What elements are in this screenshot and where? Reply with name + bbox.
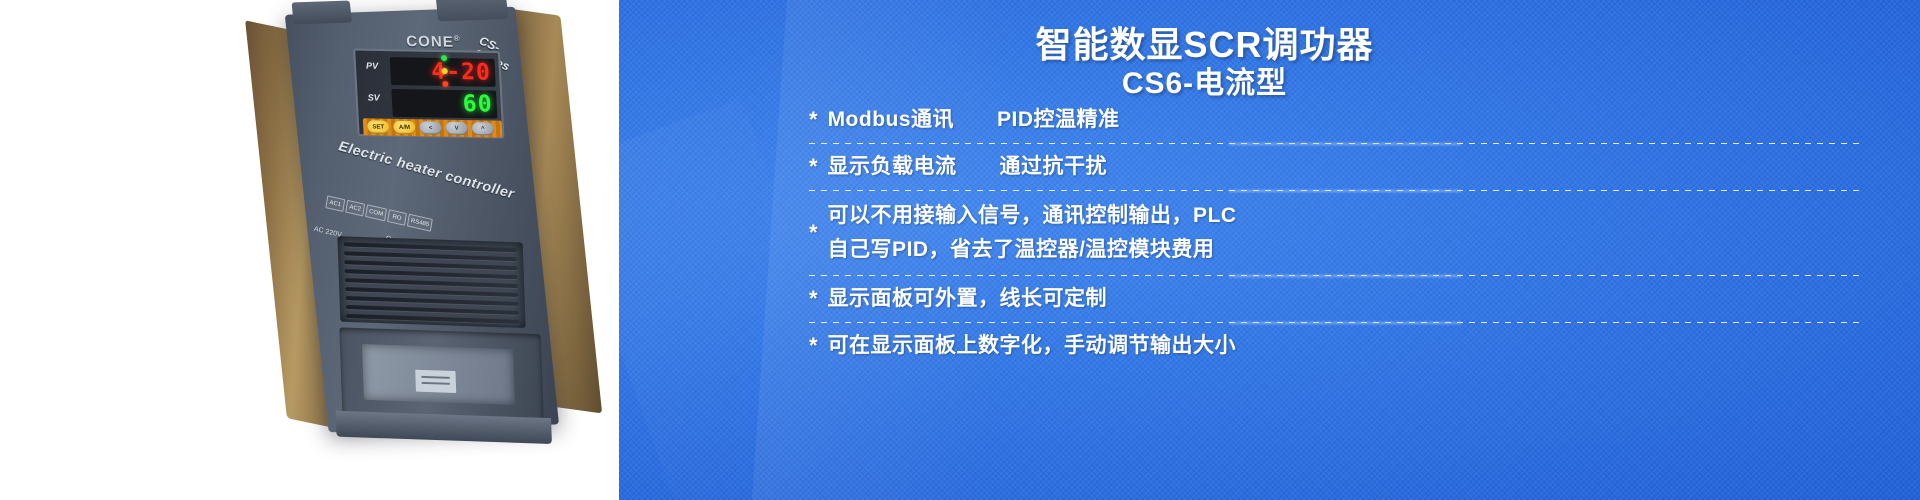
feature-text-3: 可以不用接输入信号，通讯控制输出，PLC 自己写PID，省去了温控器/温控模块费… [828,199,1237,267]
bullet-star-icon: * [809,222,818,244]
product-image-panel: CONE® CS-Series PV SV 4-20 60 SET [0,0,619,500]
brand-logo: CONE® [406,33,461,51]
feature-divider-4 [809,322,1860,323]
product-photo: CONE® CS-Series PV SV 4-20 60 SET [0,0,619,500]
heatsink-vents [337,236,525,328]
scr-power-regulator-device: CONE® CS-Series PV SV 4-20 60 SET [285,5,600,442]
pv-label: PV [366,61,379,71]
terminal-diagram: AC1 AC2 COM RO RS485 [325,195,433,231]
auto-manual-key[interactable]: A/M [393,121,416,134]
brand-name: CONE [406,33,455,51]
feature-item-5: * 可在显示面板上数字化，手动调节输出大小 [809,331,1860,367]
set-key[interactable]: SET [367,120,390,133]
feature-text-3-line-2: 自己写PID，省去了温控器/温控模块费用 [828,233,1237,267]
bullet-star-icon: * [809,335,818,357]
feature-text-1: Modbus通讯 PID控温精准 [828,105,1120,135]
display-module: PV SV 4-20 60 SET A/M < V [353,49,504,139]
increment-key[interactable]: ^ [471,122,494,135]
bullet-star-icon: * [809,109,818,131]
bullet-star-icon: * [809,288,818,310]
alarm-led-icon [442,81,448,87]
mount-ear-left [292,0,352,24]
feature-divider-2 [809,190,1860,191]
page-subtitle: CS6-电流型 [619,58,1920,102]
feature-panel: 智能数显SCR调功器 CS6-电流型 * Modbus通讯 PID控温精准 * … [619,0,1920,500]
device-label-tag [415,370,456,393]
out-led-icon [442,68,448,74]
feature-divider-1 [809,143,1860,144]
pv-value: 4-20 [431,59,492,86]
device-lower-plate [362,344,515,405]
feature-list: * Modbus通讯 PID控温精准 * 显示负载电流 通过抗干扰 * 可以不用… [809,105,1860,369]
feature-text-3-line-1: 可以不用接输入信号，通讯控制输出，PLC [828,199,1237,233]
registered-trademark-icon: ® [453,34,460,43]
feature-item-2: * 显示负载电流 通过抗干扰 [809,152,1860,188]
feature-text-2: 显示负载电流 通过抗干扰 [828,152,1108,182]
shift-left-key[interactable]: < [419,121,442,134]
terminal-com: COM [365,204,387,221]
sv-label: SV [367,92,380,102]
device-description-text: Electric heater controller [337,137,516,201]
product-banner: CONE® CS-Series PV SV 4-20 60 SET [0,0,1920,500]
bullet-star-icon: * [809,156,818,178]
feature-item-4: * 显示面板可外置，线长可定制 [809,284,1860,320]
terminal-ac1: AC1 [325,195,345,212]
feature-item-3: * 可以不用接输入信号，通讯控制输出，PLC 自己写PID，省去了温控器/温控模… [809,199,1860,273]
device-front-face: CONE® CS-Series PV SV 4-20 60 SET [285,7,559,433]
feature-text-5: 可在显示面板上数字化，手动调节输出大小 [828,331,1237,361]
decrement-key[interactable]: V [445,122,468,135]
feature-item-1: * Modbus通讯 PID控温精准 [809,105,1860,141]
terminal-ac2: AC2 [345,200,365,217]
mount-ear-right [435,0,509,21]
sv-value: 60 [462,91,493,117]
terminal-ro: RO [387,209,407,226]
keypad-strip[interactable]: SET A/M < V ^ [363,118,503,137]
terminal-rs485: RS485 [407,214,433,232]
feature-divider-3 [809,275,1860,276]
run-led-icon [441,55,447,61]
feature-text-4: 显示面板可外置，线长可定制 [828,284,1108,314]
